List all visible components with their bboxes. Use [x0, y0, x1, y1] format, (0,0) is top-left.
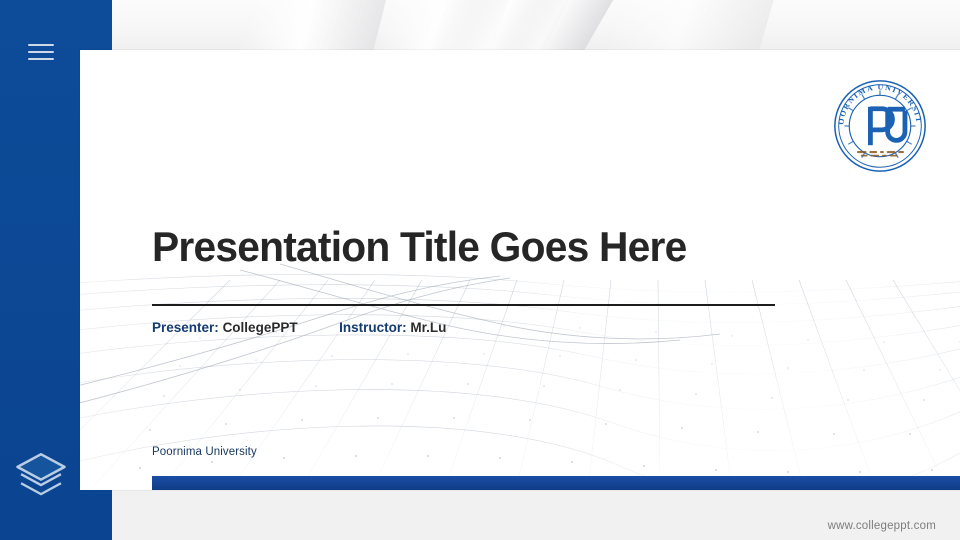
slide-footer-university-name: Poornima University: [152, 446, 257, 458]
hamburger-menu-icon[interactable]: [28, 44, 54, 66]
presenter-value: CollegePPT: [223, 320, 298, 335]
slide-bottom-accent-bar: [152, 476, 960, 490]
instructor-value: Mr.Lu: [410, 320, 446, 335]
title-divider: [152, 304, 775, 306]
presenter-label: Presenter:: [152, 320, 219, 335]
menu-bar: [28, 44, 54, 46]
backdrop-abstract-band: [112, 0, 960, 52]
page-title: Presentation Title Goes Here: [152, 225, 889, 270]
swoosh-shape: [580, 0, 777, 52]
layers-stack-icon[interactable]: [12, 447, 70, 505]
presentation-slide[interactable]: POORNIMA UNIVERSITY Presentation Title G…: [80, 50, 960, 490]
app-root: POORNIMA UNIVERSITY Presentation Title G…: [0, 0, 960, 540]
swoosh-shape: [221, 0, 388, 52]
menu-bar: [28, 51, 54, 53]
menu-bar: [28, 58, 54, 60]
slide-meta-line: Presenter: CollegePPT Instructor: Mr.Lu: [152, 320, 446, 335]
university-seal-icon: POORNIMA UNIVERSITY: [832, 78, 928, 174]
watermark-url: www.collegeppt.com: [828, 520, 936, 532]
instructor-label: Instructor:: [339, 320, 407, 335]
